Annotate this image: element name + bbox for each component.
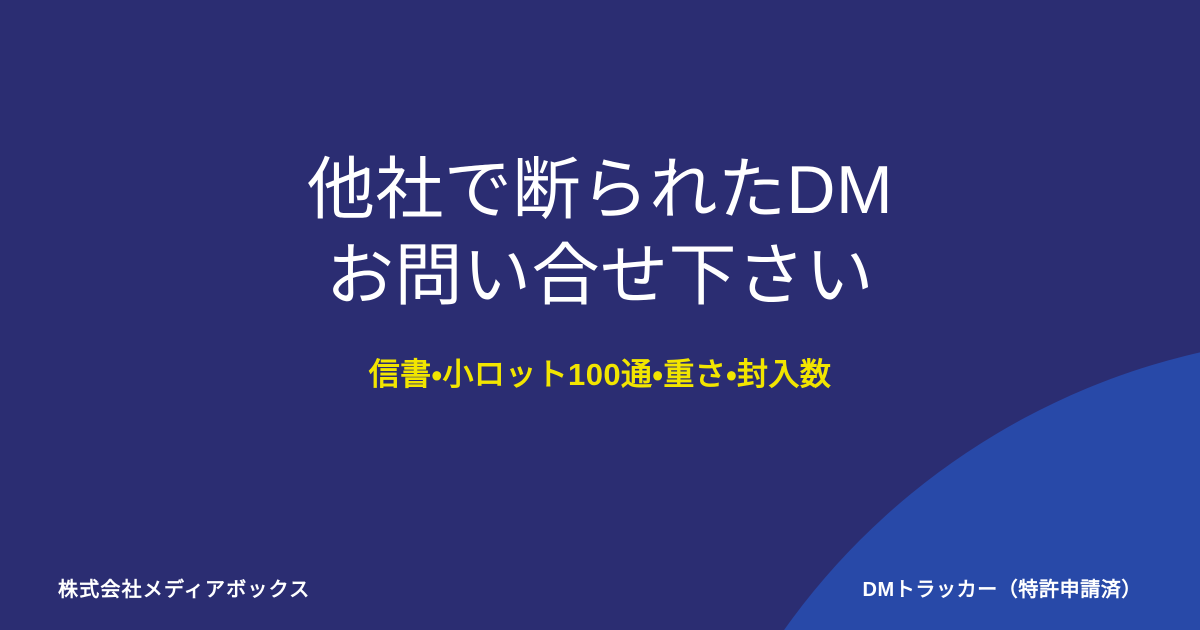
banner-footer: 株式会社メディアボックス DMトラッカー（特許申請済） [0,544,1200,630]
headline-line-2: お問い合せ下さい [326,234,874,318]
subtitle: 信書・小ロット100通・重さ・封入数 [369,349,832,394]
headline-line-1: 他社で断られたDM [307,148,893,232]
product-name-label: DMトラッカー（特許申請済） [862,573,1142,602]
promo-banner: 他社で断られたDM お問い合せ下さい 信書・小ロット100通・重さ・封入数 株式… [0,0,1200,630]
company-name-label: 株式会社メディアボックス [58,573,310,602]
banner-content: 他社で断られたDM お問い合せ下さい 信書・小ロット100通・重さ・封入数 [0,0,1200,630]
